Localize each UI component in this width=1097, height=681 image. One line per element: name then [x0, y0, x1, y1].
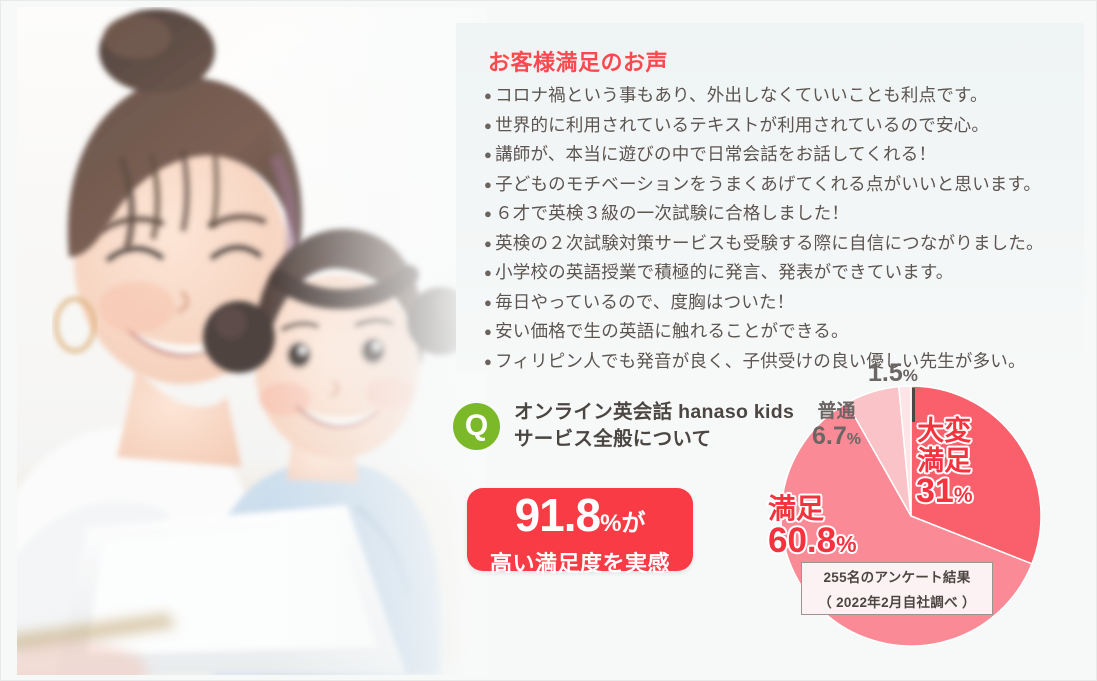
list-item: ● 世界的に利用されているテキストが利用されているので安心。 [484, 111, 1084, 141]
question-row: Q オンライン英会話 hanaso kids サービス全般について [453, 399, 794, 453]
hero-photo-illustration [17, 7, 487, 675]
satisfaction-banner-top: 91.8%が [467, 491, 693, 551]
bullet-icon: ● [484, 258, 492, 288]
list-item-text: 毎日やっているので、度胸はついた！ [495, 288, 794, 318]
satisfaction-percent: % [600, 510, 621, 537]
survey-note-line2: （ 2022年2月自社調べ ） [802, 590, 992, 615]
pie-label-neutral: 普通 6.7% [812, 399, 861, 452]
pie-label-very-satisfied: 大変 満足 31% [916, 416, 973, 511]
bullet-icon: ● [484, 288, 492, 318]
satisfaction-pie-chart: 大変 満足 31% 満足 60.8% 普通 6.7% 1.5% [746, 361, 1076, 661]
pie-label-other: 1.5% [868, 359, 918, 388]
list-item-text: 英検の２次試験対策サービスも受験する際に自信につながりました。 [495, 229, 1044, 259]
list-item: ● 英検の２次試験対策サービスも受験する際に自信につながりました。 [484, 229, 1084, 259]
list-item-text: 講師が、本当に遊びの中で日常会話をお話してくれる！ [495, 140, 936, 170]
bullet-icon: ● [484, 229, 492, 259]
testimonial-title: お客様満足のお声 [488, 45, 668, 77]
satisfaction-banner: 91.8%が 高い満足度を実感 [467, 488, 693, 571]
list-item: ● 安い価格で生の英語に触れることができる。 [484, 317, 1084, 347]
bullet-icon: ● [484, 81, 492, 111]
bullet-icon: ● [484, 317, 492, 347]
pie-label-neutral-name: 普通 [812, 399, 861, 424]
list-item-text: コロナ禍という事もあり、外出しなくていいことも利点です。 [495, 81, 988, 111]
bullet-icon: ● [484, 140, 492, 170]
list-item-text: 安い価格で生の英語に触れることができる。 [495, 317, 849, 347]
list-item: ● 子どものモチベーションをうまくあげてくれる点がいいと思います。 [484, 170, 1084, 200]
testimonial-list: ● コロナ禍という事もあり、外出しなくていいことも利点です。 ● 世界的に利用さ… [484, 81, 1084, 376]
bullet-icon: ● [484, 347, 492, 377]
pie-label-satisfied-value: 60.8% [768, 525, 857, 564]
list-item: ● 小学校の英語授業で積極的に発言、発表ができています。 [484, 258, 1084, 288]
list-item: ● コロナ禍という事もあり、外出しなくていいことも利点です。 [484, 81, 1084, 111]
list-item-text: 小学校の英語授業で積極的に発言、発表ができています。 [495, 258, 953, 288]
pie-label-satisfied: 満足 60.8% [768, 493, 857, 564]
list-item: ● 毎日やっているので、度胸はついた！ [484, 288, 1084, 318]
list-item-text: ６才で英検３級の一次試験に合格しました！ [495, 199, 849, 229]
satisfaction-value: 91.8 [515, 489, 601, 541]
satisfaction-suffix: が [621, 510, 645, 537]
pie-leader-line [912, 388, 915, 422]
pie-label-very-satisfied-value: 31% [916, 476, 973, 511]
survey-note: 255名のアンケート結果 （ 2022年2月自社調べ ） [801, 562, 993, 615]
bullet-icon: ● [484, 111, 492, 141]
pie-label-very-satisfied-name1: 大変 [916, 416, 973, 446]
bullet-icon: ● [484, 170, 492, 200]
question-badge-icon: Q [453, 403, 500, 450]
list-item-text: 世界的に利用されているテキストが利用されているので安心。 [495, 111, 989, 141]
list-item: ● ６才で英検３級の一次試験に合格しました！ [484, 199, 1084, 229]
page-root: お客様満足のお声 ● コロナ禍という事もあり、外出しなくていいことも利点です。 … [0, 0, 1097, 681]
hero-photo [17, 7, 487, 675]
pie-label-neutral-value: 6.7% [812, 424, 861, 452]
bullet-icon: ● [484, 199, 492, 229]
survey-note-line1: 255名のアンケート結果 [802, 565, 992, 590]
list-item-text: 子どものモチベーションをうまくあげてくれる点がいいと思います。 [495, 170, 1041, 200]
list-item: ● 講師が、本当に遊びの中で日常会話をお話してくれる！ [484, 140, 1084, 170]
satisfaction-caption: 高い満足度を実感 [467, 551, 693, 577]
